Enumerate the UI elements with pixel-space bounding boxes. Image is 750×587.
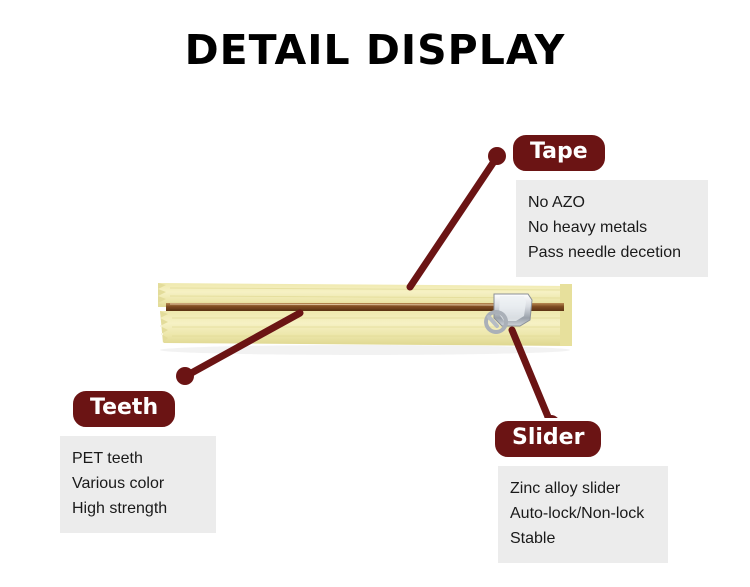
callout-label-slider: Slider xyxy=(492,418,604,460)
callout-info-tape-line-1: No AZO xyxy=(528,190,696,215)
callout-label-teeth: Teeth xyxy=(70,388,178,430)
callout-info-tape-line-2: No heavy metals xyxy=(528,215,696,240)
leader-dot-tape xyxy=(488,147,506,165)
callout-info-slider-line-3: Stable xyxy=(510,526,656,551)
callout-info-tape: No AZO No heavy metals Pass needle decet… xyxy=(516,180,708,277)
callout-info-slider-line-2: Auto-lock/Non-lock xyxy=(510,501,656,526)
callout-info-teeth-line-2: Various color xyxy=(72,471,204,496)
zipper-illustration xyxy=(158,283,572,355)
callout-info-slider-line-1: Zinc alloy slider xyxy=(510,476,656,501)
detail-display-canvas: DETAIL DISPLAY xyxy=(0,0,750,587)
leader-dot-teeth xyxy=(176,367,194,385)
callout-info-tape-line-3: Pass needle decetion xyxy=(528,240,696,265)
callout-info-slider: Zinc alloy slider Auto-lock/Non-lock Sta… xyxy=(498,466,668,563)
callout-info-teeth-line-1: PET teeth xyxy=(72,446,204,471)
leader-line-tape xyxy=(410,157,497,287)
callout-info-teeth: PET teeth Various color High strength xyxy=(60,436,216,533)
callout-info-teeth-line-3: High strength xyxy=(72,496,204,521)
callout-label-tape: Tape xyxy=(510,132,608,174)
